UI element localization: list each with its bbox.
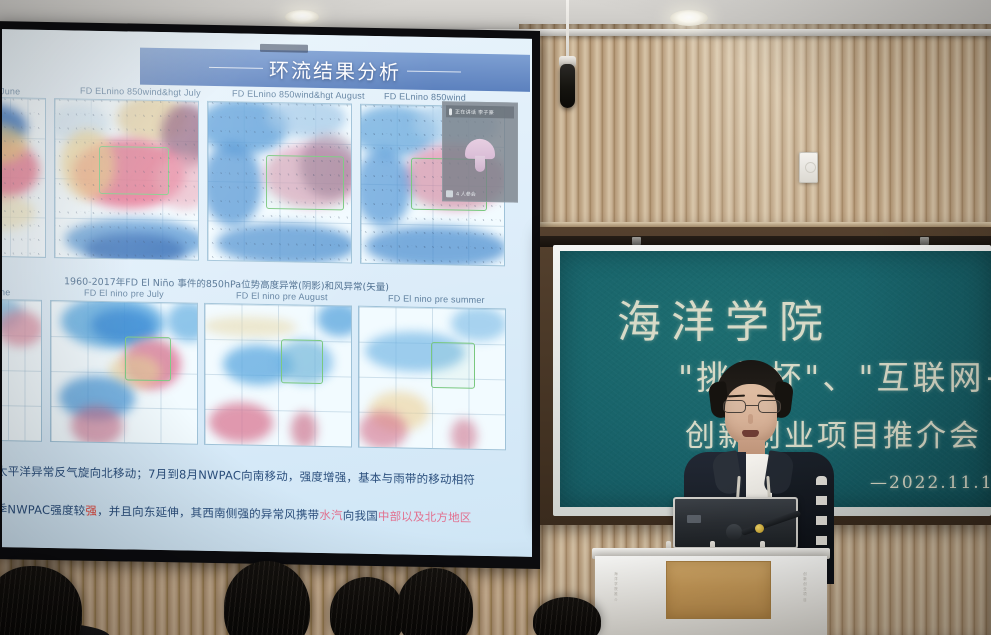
chart-panel-top-0[interactable] bbox=[2, 97, 46, 258]
microphone-icon bbox=[449, 108, 452, 115]
chart-label-bottom-0: ne bbox=[2, 287, 10, 297]
vc-footer: 4 人参会 bbox=[446, 190, 476, 198]
slide-body-seg-0: 夏季NWPAC强度较 bbox=[2, 502, 85, 518]
title-decoration-left bbox=[209, 67, 263, 69]
microphone-cord bbox=[566, 0, 569, 60]
lecture-hall-scene: 环流结果分析 June FD ELnino 850wind&hgt July F… bbox=[0, 0, 991, 635]
chart-panel-top-2[interactable] bbox=[207, 101, 352, 264]
glasses-bridge bbox=[746, 405, 758, 406]
presentation-slide: 环流结果分析 June FD ELnino 850wind&hgt July F… bbox=[2, 29, 532, 557]
podium-wood-panel bbox=[666, 561, 771, 619]
wind-vectors bbox=[208, 102, 351, 263]
podium-right-text: 创 新 创 业 项 目 bbox=[793, 572, 817, 603]
slide-body-line-1: 太平洋异常反气旋向北移动；7月到8月NWPAC向南移动，强度增强，基本与雨带的移… bbox=[2, 463, 475, 488]
chart-label-bottom-1: FD El nino pre July bbox=[84, 288, 164, 299]
chart-label-top-0: June bbox=[2, 86, 20, 96]
blackboard-hook bbox=[632, 237, 641, 245]
microphone-knob bbox=[755, 524, 764, 533]
chart-panel-bottom-1[interactable] bbox=[50, 300, 198, 445]
title-decoration-right bbox=[407, 71, 461, 73]
wall-sensor-panel-icon bbox=[799, 152, 818, 183]
ceiling-light-icon bbox=[285, 10, 319, 24]
chart-panel-bottom-2[interactable] bbox=[204, 303, 352, 448]
presenter-nose bbox=[748, 414, 753, 424]
vc-participant-header: 正在讲话 李子豪 bbox=[446, 105, 514, 118]
chart-label-top-2: FD ELnino 850wind&hgt August bbox=[232, 88, 365, 100]
slide-body-seg-2: ，并且向东延伸，其西南侧强的异常风携带 bbox=[97, 504, 319, 522]
chart-label-top-1: FD ELnino 850wind&hgt July bbox=[80, 86, 201, 98]
lens-right bbox=[758, 400, 781, 413]
eyeglasses-icon bbox=[722, 400, 782, 413]
chart-label-bottom-2: FD El nino pre August bbox=[236, 290, 328, 302]
ceiling-light-icon bbox=[670, 10, 708, 26]
participants-icon bbox=[446, 190, 453, 197]
chart-panel-top-1[interactable] bbox=[54, 98, 199, 261]
blackboard-hook bbox=[920, 237, 929, 245]
slide-title: 环流结果分析 bbox=[263, 54, 407, 86]
slide-title-banner: 环流结果分析 bbox=[140, 48, 530, 92]
slide-body-seg-4: 向我国 bbox=[343, 508, 378, 523]
chart-panel-bottom-3[interactable] bbox=[358, 306, 506, 451]
slide-body-line-2: 夏季NWPAC强度较强，并且向东延伸，其西南侧强的异常风携带水汽向我国中部以及北… bbox=[2, 501, 472, 526]
region-highlight-box bbox=[281, 339, 323, 384]
chart-panel-bottom-0[interactable] bbox=[2, 299, 42, 442]
vc-participant-name: 正在讲话 李子豪 bbox=[455, 108, 494, 116]
vc-participant-count: 4 人参会 bbox=[456, 190, 476, 197]
region-highlight-box bbox=[431, 342, 475, 389]
slide-title-tag bbox=[260, 44, 308, 53]
presenter-mouth bbox=[742, 430, 759, 437]
projection-screen[interactable]: 环流结果分析 June FD ELnino 850wind&hgt July F… bbox=[0, 21, 540, 569]
wind-vectors bbox=[55, 99, 198, 260]
lens-left bbox=[723, 400, 746, 413]
slide-body-seg-5-highlight: 中部以及北方地区 bbox=[378, 509, 472, 525]
projection-screen-surface: 环流结果分析 June FD ELnino 850wind&hgt July F… bbox=[2, 29, 532, 557]
hanging-microphone-icon bbox=[560, 64, 575, 108]
slide-body-seg-3-highlight: 水汽 bbox=[319, 508, 342, 522]
mushroom-avatar-icon bbox=[465, 139, 495, 160]
region-highlight-box bbox=[125, 336, 171, 381]
podium-left-text: 海 洋 学 院 推 介 bbox=[604, 572, 628, 603]
slide-body-seg-1-highlight: 强 bbox=[85, 504, 97, 518]
video-conference-overlay[interactable]: 正在讲话 李子豪 4 人参会 bbox=[442, 101, 518, 202]
blackboard-line-1: 海洋学院 bbox=[617, 286, 833, 350]
microphone-base bbox=[726, 524, 742, 540]
blackboard-date: —2022.11.12 bbox=[870, 473, 991, 493]
chart-label-bottom-3: FD El nino pre summer bbox=[388, 293, 485, 305]
wind-vectors bbox=[2, 98, 45, 257]
monitor-sticker bbox=[687, 515, 701, 523]
